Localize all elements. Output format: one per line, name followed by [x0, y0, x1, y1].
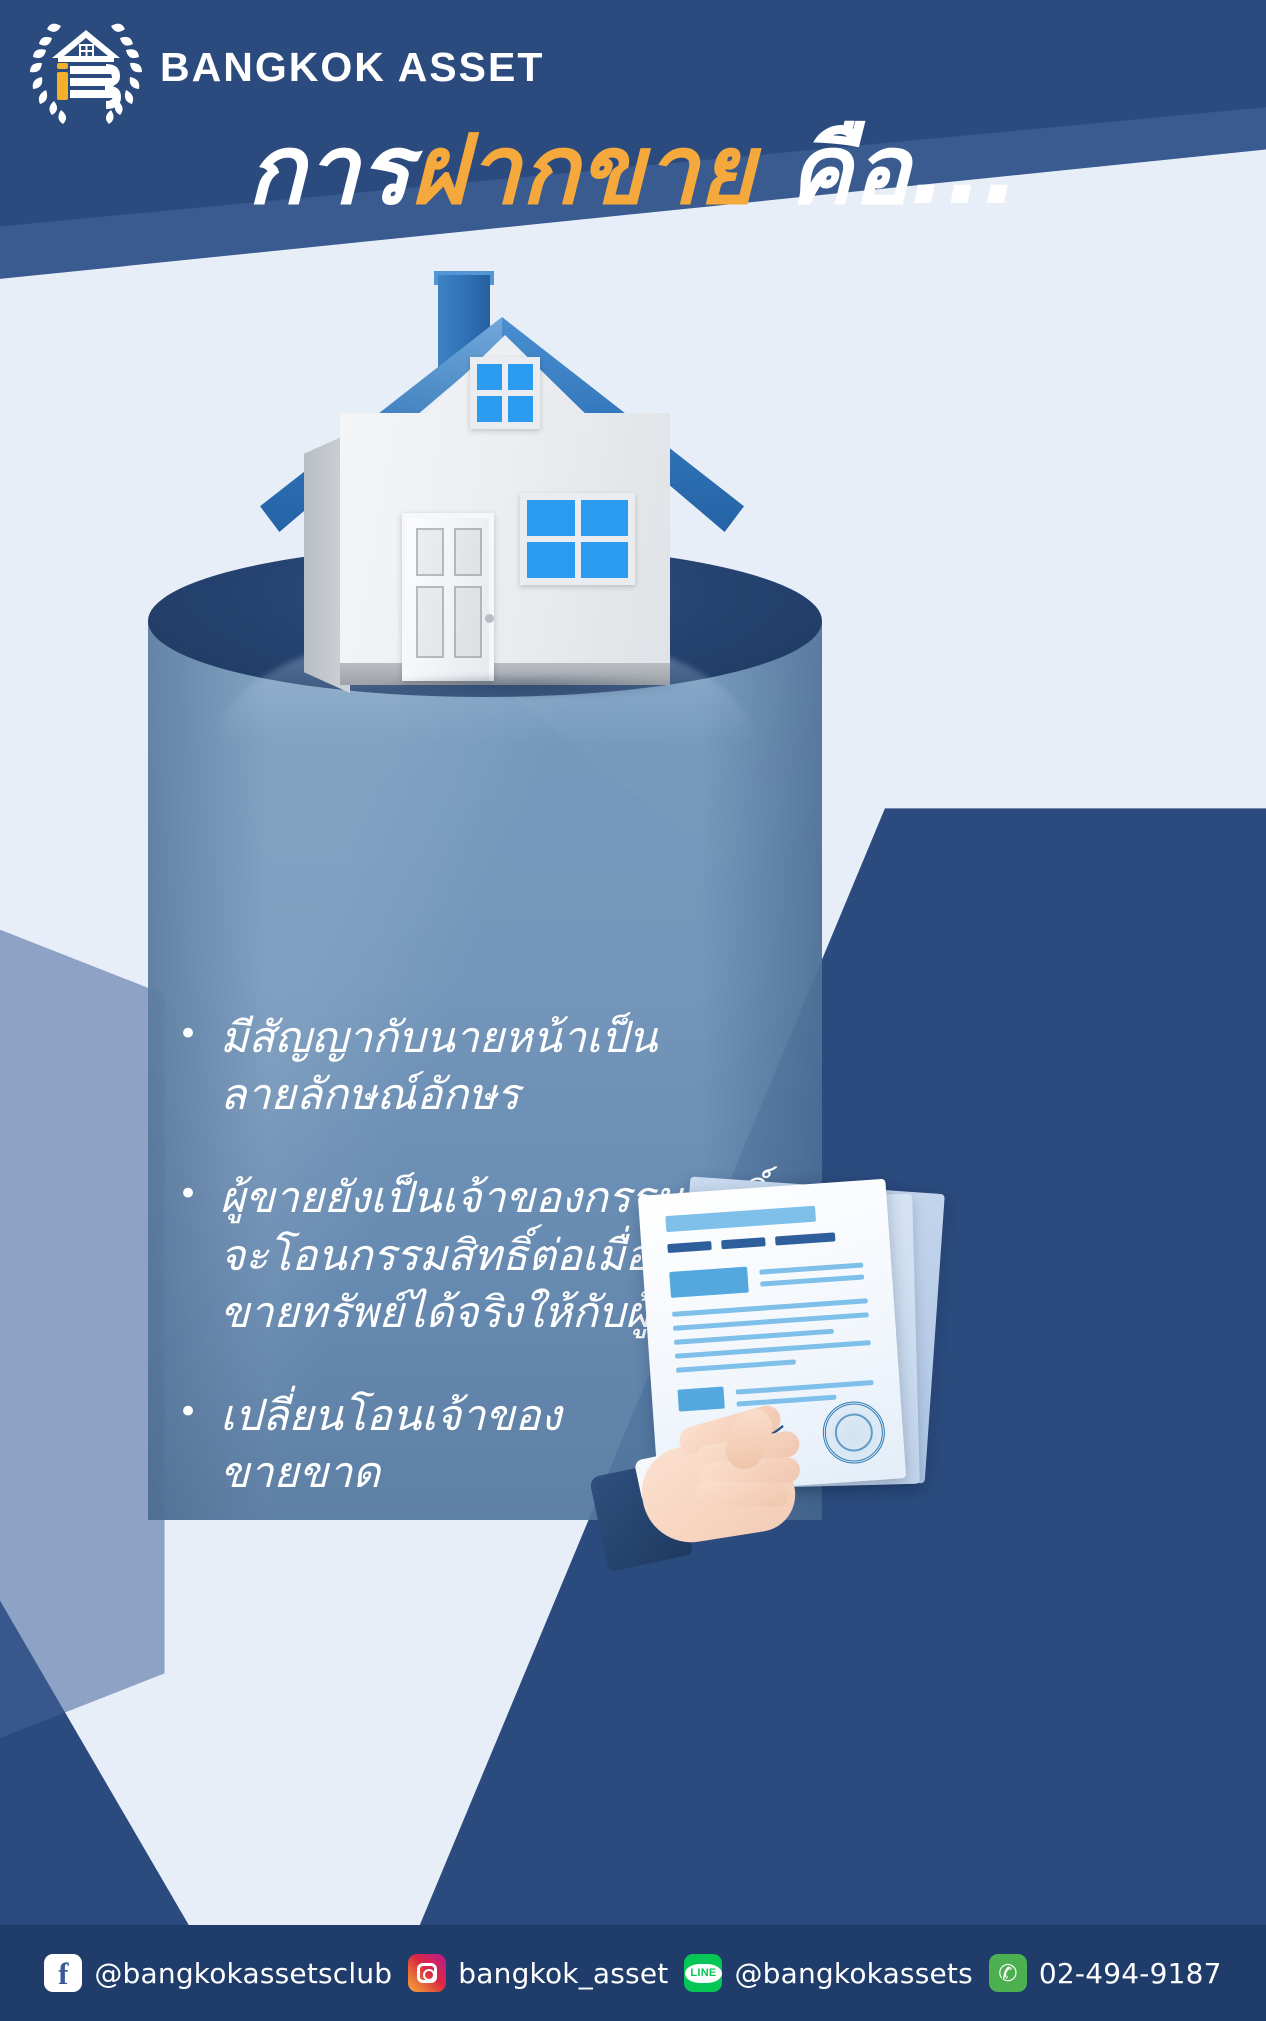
bullet-line: มีสัญญากับนายหน้าเป็น: [220, 1010, 1038, 1067]
footer-item-phone[interactable]: ✆ 02-494-9187: [989, 1954, 1222, 1992]
title-part-2: ฝากขาย: [410, 114, 754, 226]
wreath-house-monogram-logo: [28, 8, 144, 124]
footer-item-line[interactable]: LINE @bangkokassets: [684, 1954, 972, 1992]
instagram-handle: bangkok_asset: [458, 1957, 668, 1990]
line-handle: @bangkokassets: [734, 1957, 972, 1990]
footer-item-facebook[interactable]: f @bangkokassetsclub: [44, 1954, 392, 1992]
list-item: • มีสัญญากับนายหน้าเป็น ลายลักษณ์อักษร: [178, 1010, 1038, 1124]
hand-icon: [620, 1390, 870, 1560]
contract-document-in-hand: [620, 1175, 950, 1555]
line-icon[interactable]: LINE: [684, 1954, 722, 1992]
title-part-1: การ: [247, 114, 411, 226]
facebook-icon[interactable]: f: [44, 1954, 82, 1992]
background-accent-left: [0, 930, 165, 1738]
footer-item-instagram[interactable]: bangkok_asset: [408, 1954, 668, 1992]
phone-icon[interactable]: ✆: [989, 1954, 1027, 1992]
instagram-icon[interactable]: [408, 1954, 446, 1992]
facebook-handle: @bangkokassetsclub: [94, 1957, 392, 1990]
front-door-icon: [402, 513, 494, 681]
footer-contact-bar: f @bangkokassetsclub bangkok_asset LINE …: [0, 1925, 1266, 2021]
title-part-3: คือ...: [754, 114, 1019, 226]
main-window-icon: [520, 493, 635, 585]
bullet-marker: •: [178, 1388, 220, 1502]
bullet-marker: •: [178, 1010, 220, 1124]
house-illustration: [252, 265, 752, 685]
phone-number: 02-494-9187: [1039, 1957, 1222, 1990]
gable-window-icon: [470, 357, 540, 429]
page-title: การฝากขาย คือ...: [0, 120, 1266, 221]
bullet-line: ลายลักษณ์อักษร: [220, 1067, 1038, 1124]
brand-name: BANGKOK ASSET: [160, 44, 544, 91]
bullet-marker: •: [178, 1170, 220, 1342]
poster-canvas: BANGKOK ASSET การฝากขาย คือ...: [0, 0, 1266, 2021]
